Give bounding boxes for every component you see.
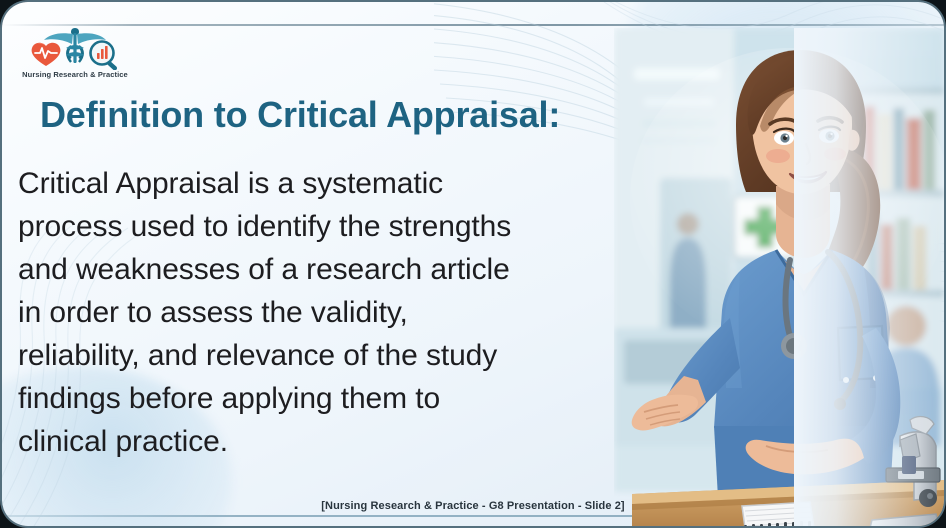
body-line: in order to assess the validity, — [18, 291, 643, 334]
slide-canvas: Nursing Research & Practice Definition t… — [0, 0, 946, 528]
body-line: findings before applying them to — [18, 377, 643, 420]
stethoscope-earpiece — [834, 398, 846, 410]
magnifier-chart-icon — [91, 42, 118, 71]
heart-pulse-icon — [32, 43, 61, 66]
body-line: process used to identify the strengths — [18, 205, 643, 248]
slide-frame: Nursing Research & Practice Definition t… — [2, 2, 944, 526]
stethoscope-chestpiece — [781, 333, 807, 359]
nurse-illustration — [614, 28, 944, 526]
top-accent-line — [2, 24, 944, 26]
slide-title: Definition to Critical Appraisal: — [40, 94, 560, 136]
slide-body-text: Critical Appraisal is a systematic proce… — [18, 162, 643, 463]
body-line: reliability, and relevance of the study — [18, 334, 643, 377]
body-line: clinical practice. — [18, 420, 643, 463]
logo-caption: Nursing Research & Practice — [16, 70, 134, 79]
logo-mark — [16, 24, 134, 70]
body-line: Critical Appraisal is a systematic — [18, 162, 643, 205]
body-line: and weaknesses of a research article — [18, 248, 643, 291]
slide-footer: [Nursing Research & Practice - G8 Presen… — [2, 500, 944, 512]
brand-logo: Nursing Research & Practice — [16, 24, 134, 86]
